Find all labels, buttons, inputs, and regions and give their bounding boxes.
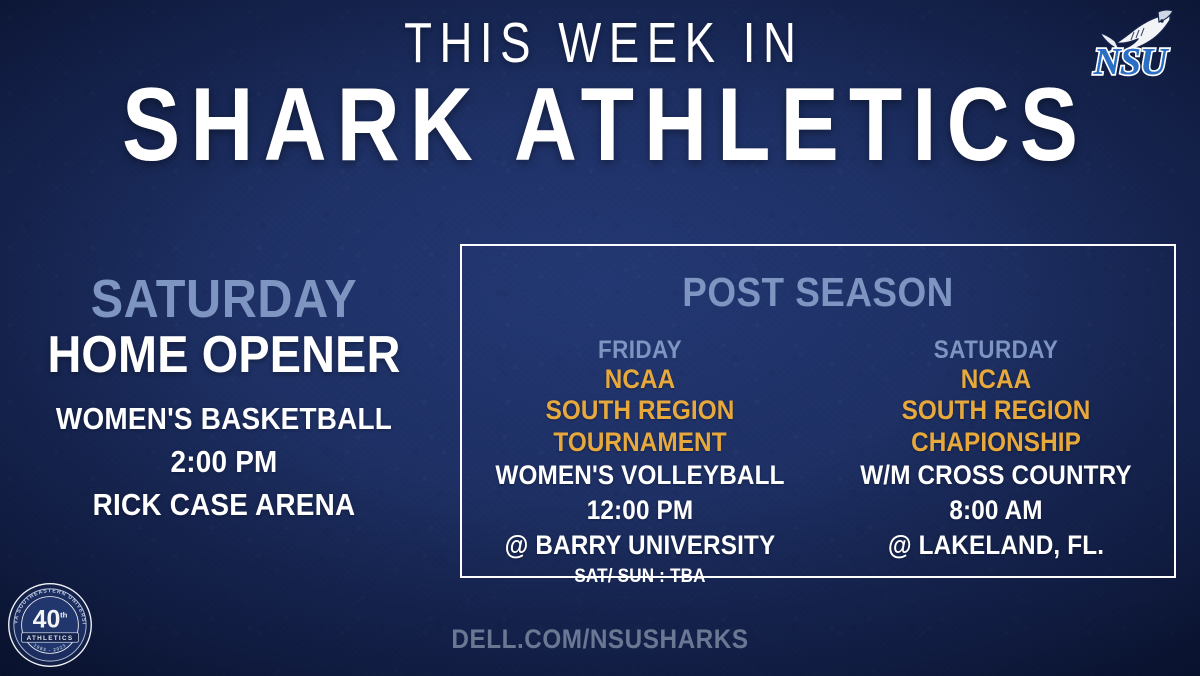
- left-detail-venue: RICK CASE ARENA: [35, 484, 413, 527]
- left-detail-sport: WOMEN'S BASKETBALL: [35, 398, 413, 441]
- friday-sport-label: WOMEN'S VOLLEYBALL: [485, 458, 795, 493]
- seal-banner-text: ATHLETICS: [27, 635, 74, 642]
- friday-org-label: NCAA: [485, 364, 795, 395]
- left-event-title: HOME OPENER: [35, 327, 413, 383]
- seal-number: 40: [33, 606, 61, 634]
- this-week-in-shark-athletics-graphic: THIS WEEK IN SHARK ATHLETICS NSU NSU SAT…: [0, 0, 1200, 676]
- nsu-shark-logo: NSU NSU: [1074, 8, 1186, 86]
- saturday-org-label: NCAA: [841, 364, 1151, 395]
- seal-ordinal: th: [60, 610, 68, 619]
- saturday-day-label: SATURDAY: [841, 336, 1151, 364]
- post-season-box: POST SEASON FRIDAY NCAA SOUTH REGION TOU…: [460, 244, 1176, 578]
- nsu-wordmark-fill: NSU: [1092, 41, 1170, 83]
- post-season-column-friday: FRIDAY NCAA SOUTH REGION TOURNAMENT WOME…: [462, 336, 818, 592]
- saturday-event-label: SOUTH REGION CHAPIONSHIP: [841, 395, 1151, 458]
- friday-day-label: FRIDAY: [485, 336, 795, 364]
- post-season-heading: POST SEASON: [498, 272, 1139, 313]
- friday-venue-label: @ BARRY UNIVERSITY: [485, 528, 795, 563]
- left-day-label: SATURDAY: [35, 272, 413, 327]
- friday-event-label: SOUTH REGION TOURNAMENT: [485, 395, 795, 458]
- kicker-text: THIS WEEK IN: [120, 16, 1080, 72]
- 40th-anniversary-seal-icon: NOVA SOUTHEASTERN UNIVERSITY 1983 - 2023…: [7, 582, 93, 668]
- footer-url: DELL.COM/NSUSHARKS: [60, 624, 1140, 655]
- saturday-venue-label: @ LAKELAND, FL.: [841, 528, 1151, 563]
- friday-time-label: 12:00 PM: [485, 493, 795, 528]
- friday-note-label: SAT/ SUN : TBA: [485, 563, 795, 592]
- left-detail-lines: WOMEN'S BASKETBALL 2:00 PM RICK CASE ARE…: [14, 398, 434, 526]
- post-season-columns: FRIDAY NCAA SOUTH REGION TOURNAMENT WOME…: [462, 336, 1174, 592]
- shark-eye: [1160, 19, 1163, 22]
- post-season-column-saturday: SATURDAY NCAA SOUTH REGION CHAPIONSHIP W…: [818, 336, 1174, 592]
- header-block: THIS WEEK IN SHARK ATHLETICS: [0, 16, 1200, 176]
- saturday-sport-label: W/M CROSS COUNTRY: [841, 458, 1151, 493]
- saturday-time-label: 8:00 AM: [841, 493, 1151, 528]
- page-title: SHARK ATHLETICS: [96, 76, 1104, 176]
- saturday-home-opener-block: SATURDAY HOME OPENER WOMEN'S BASKETBALL …: [14, 272, 434, 527]
- left-detail-time: 2:00 PM: [35, 441, 413, 484]
